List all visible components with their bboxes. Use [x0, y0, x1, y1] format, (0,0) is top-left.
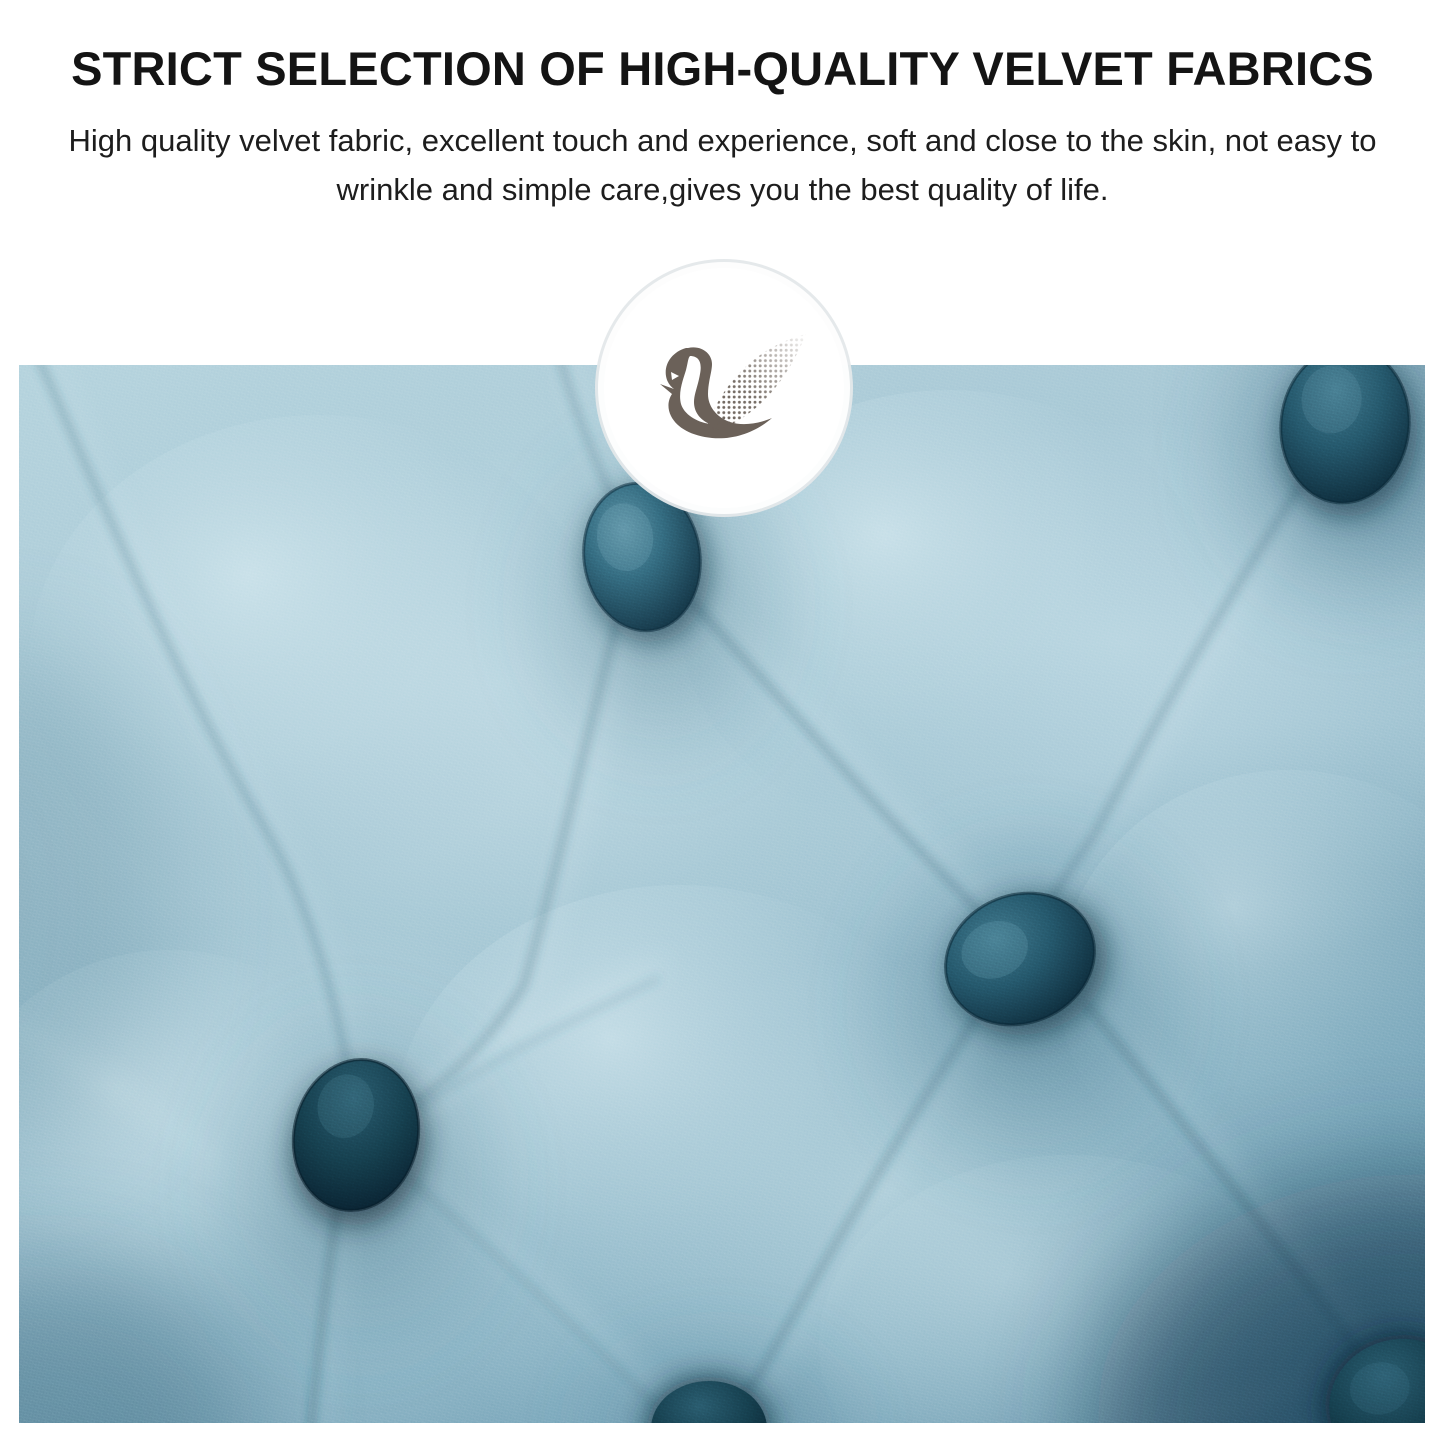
brand-badge-disc: [615, 279, 833, 497]
tufted-velvet-fabric-photo: [19, 365, 1425, 1423]
page-title: STRICT SELECTION OF HIGH-QUALITY VELVET …: [0, 0, 1445, 95]
tufting-seams-and-buttons: [19, 365, 1425, 1423]
swan-logo-icon: [638, 332, 810, 444]
page-subtitle: High quality velvet fabric, excellent to…: [68, 95, 1378, 215]
header-block: STRICT SELECTION OF HIGH-QUALITY VELVET …: [0, 0, 1445, 215]
promo-page: STRICT SELECTION OF HIGH-QUALITY VELVET …: [0, 0, 1445, 1445]
brand-badge: [604, 268, 844, 508]
